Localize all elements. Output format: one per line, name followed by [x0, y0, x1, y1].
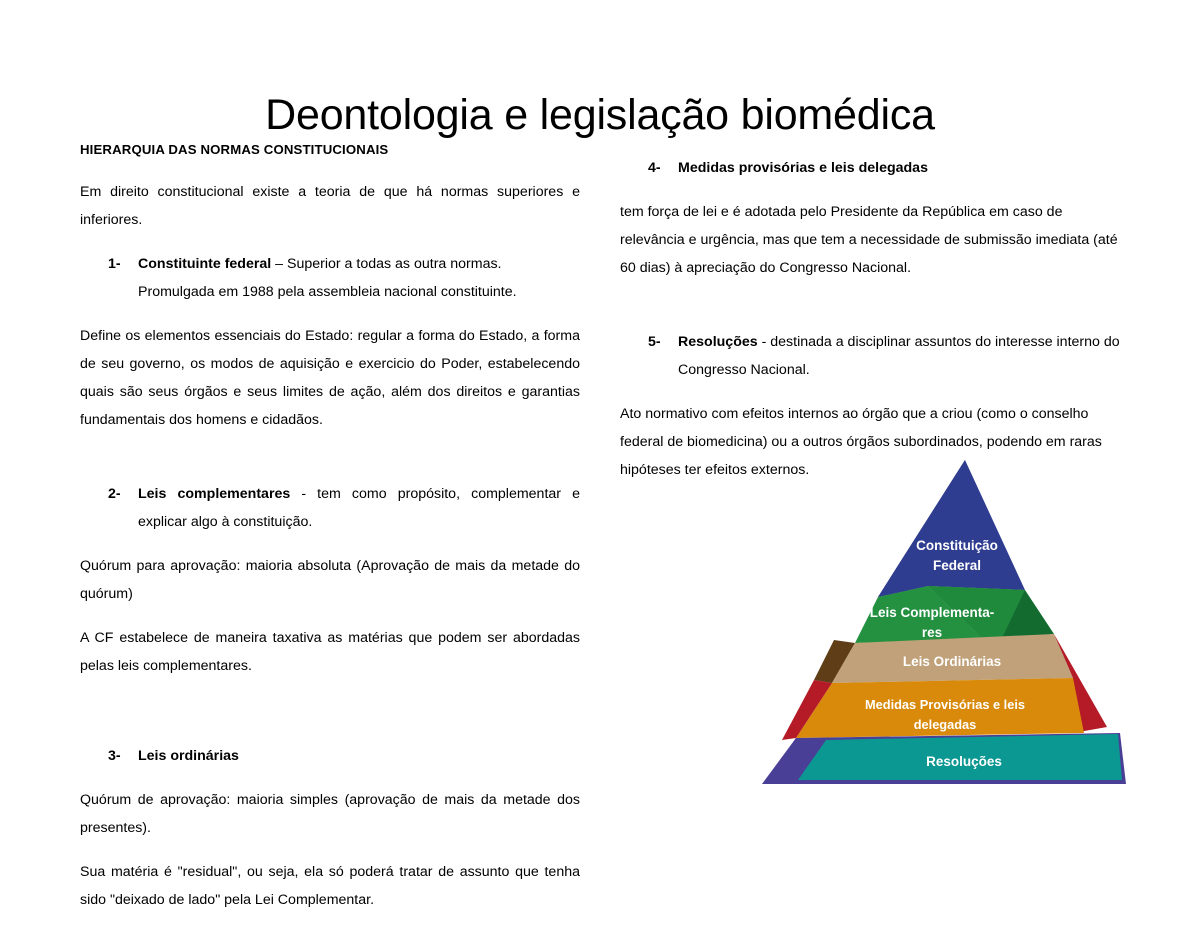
- list-item-4: 4-Medidas provisórias e leis delegadas: [620, 154, 1120, 182]
- page-title: Deontologia e legislação biomédica: [0, 91, 1200, 139]
- document-page: Deontologia e legislação biomédica HIERA…: [0, 0, 1200, 848]
- spacer: [80, 696, 580, 742]
- pyramid-level-constituicao-federal: Constituição Federal: [878, 460, 1025, 597]
- list-item-1-lead: Constituinte federal: [138, 256, 271, 272]
- list-item-1-number: 1-: [108, 250, 134, 278]
- list-item-5-number: 5-: [648, 328, 674, 356]
- pyramid-level-5-label: Resoluções: [926, 754, 1002, 769]
- pyramid-level-leis-ordinarias: Leis Ordinárias: [814, 634, 1073, 683]
- list-item-5-lead: Resoluções: [678, 334, 758, 350]
- spacer: [620, 298, 1120, 328]
- list-item-1: 1-Constituinte federal – Superior a toda…: [80, 250, 580, 306]
- list-item-3-number: 3-: [108, 742, 134, 770]
- spacer: [620, 140, 1120, 154]
- pyramid-level-1-face: [878, 460, 1025, 597]
- right-column: 4-Medidas provisórias e leis delegadas t…: [620, 140, 1120, 500]
- list-item-2-lead: Leis complementares: [138, 486, 290, 502]
- list-item-3: 3-Leis ordinárias: [80, 742, 580, 770]
- list-item-2: 2-Leis complementares - tem como propósi…: [80, 480, 580, 536]
- pyramid-level-3-label: Leis Ordinárias: [903, 654, 1001, 669]
- pyramid-svg: Constituição Federal Leis Complementa- r…: [752, 450, 1134, 790]
- paragraph-quorum-ordinaria: Quórum de aprovação: maioria simples (ap…: [80, 786, 580, 842]
- pyramid-level-1-label-line2: Federal: [933, 558, 981, 573]
- paragraph-residual: Sua matéria é "residual", ou seja, ela s…: [80, 858, 580, 914]
- intro-paragraph: Em direito constitucional existe a teori…: [80, 178, 580, 234]
- list-item-4-lead: Medidas provisórias e leis delegadas: [678, 160, 928, 176]
- list-item-5: 5-Resoluções - destinada a disciplinar a…: [620, 328, 1120, 384]
- section-heading: HIERARQUIA DAS NORMAS CONSTITUCIONAIS: [80, 140, 580, 160]
- list-item-3-lead: Leis ordinárias: [138, 748, 239, 764]
- paragraph-medidas-provisorias: tem força de lei e é adotada pelo Presid…: [620, 198, 1120, 282]
- pyramid-level-4-label-line1: Medidas Provisórias e leis: [865, 697, 1025, 712]
- spacer: [80, 450, 580, 480]
- paragraph-estado: Define os elementos essenciais do Estado…: [80, 322, 580, 434]
- pyramid-level-2-label-line1: Leis Complementa-: [870, 605, 995, 620]
- paragraph-cf-taxativa: A CF estabelece de maneira taxativa as m…: [80, 624, 580, 680]
- hierarchy-pyramid-diagram: Constituição Federal Leis Complementa- r…: [752, 450, 1134, 790]
- list-item-2-number: 2-: [108, 480, 134, 508]
- pyramid-level-4-label-line2: delegadas: [914, 717, 977, 732]
- paragraph-quorum-complementar: Quórum para aprovação: maioria absoluta …: [80, 552, 580, 608]
- left-column: HIERARQUIA DAS NORMAS CONSTITUCIONAIS Em…: [80, 140, 580, 930]
- list-item-4-number: 4-: [648, 154, 674, 182]
- pyramid-level-2-label-line2: res: [922, 625, 942, 640]
- pyramid-level-resolucoes: Resoluções: [762, 733, 1126, 784]
- pyramid-level-1-label-line1: Constituição: [916, 538, 998, 553]
